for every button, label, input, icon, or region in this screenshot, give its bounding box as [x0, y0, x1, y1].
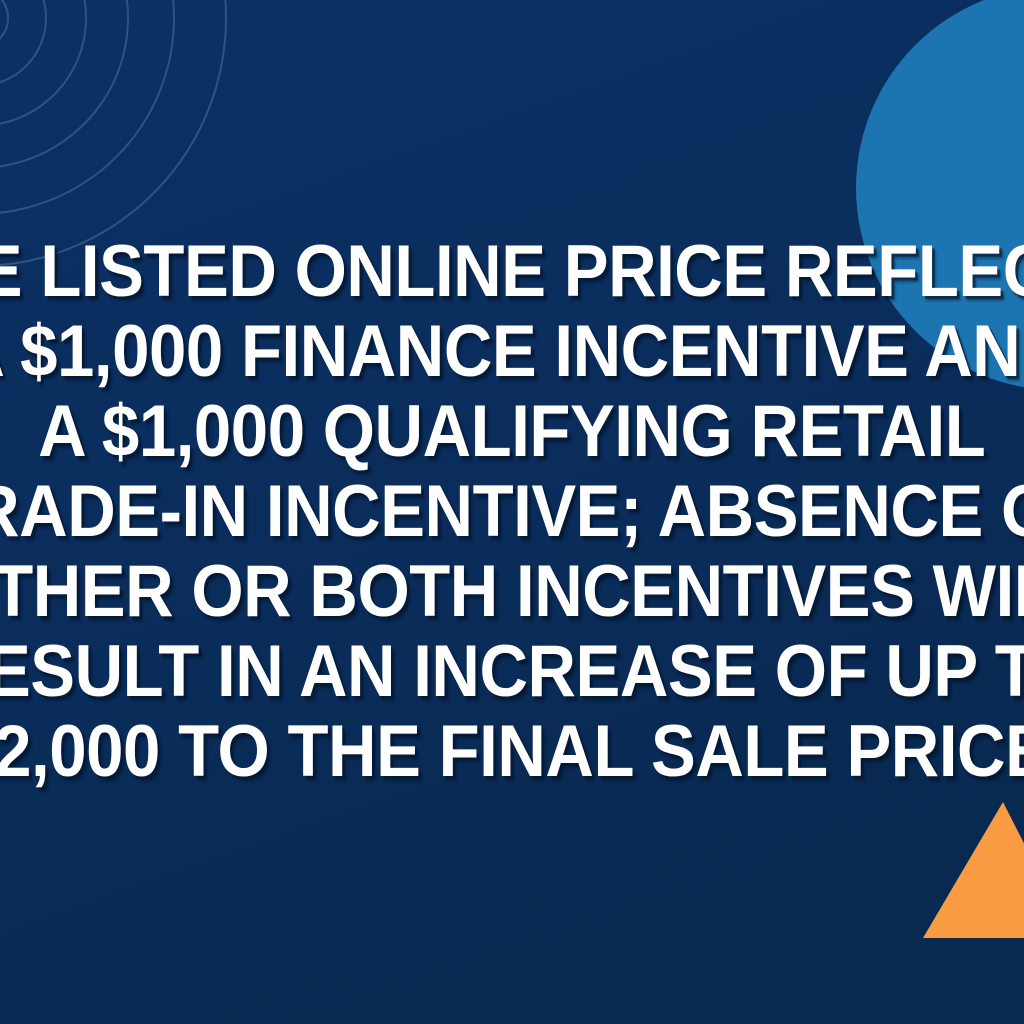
headline-line-4: TRADE-IN INCENTIVE; ABSENCE OF — [0, 472, 1024, 552]
headline-block: THE LISTED ONLINE PRICE REFLECTS A $1,00… — [0, 0, 1024, 1024]
headline-line-1: THE LISTED ONLINE PRICE REFLECTS — [0, 232, 1024, 312]
promo-disclaimer-card: THE LISTED ONLINE PRICE REFLECTS A $1,00… — [0, 0, 1024, 1024]
headline-line-7: $2,000 TO THE FINAL SALE PRICE. — [0, 712, 1024, 792]
headline-line-6: RESULT IN AN INCREASE OF UP TO — [0, 632, 1024, 712]
headline-line-5: EITHER OR BOTH INCENTIVES WILL — [0, 552, 1024, 632]
headline-line-3: A $1,000 QUALIFYING RETAIL — [38, 392, 985, 472]
headline-line-2: A $1,000 FINANCE INCENTIVE AND — [0, 312, 1024, 392]
